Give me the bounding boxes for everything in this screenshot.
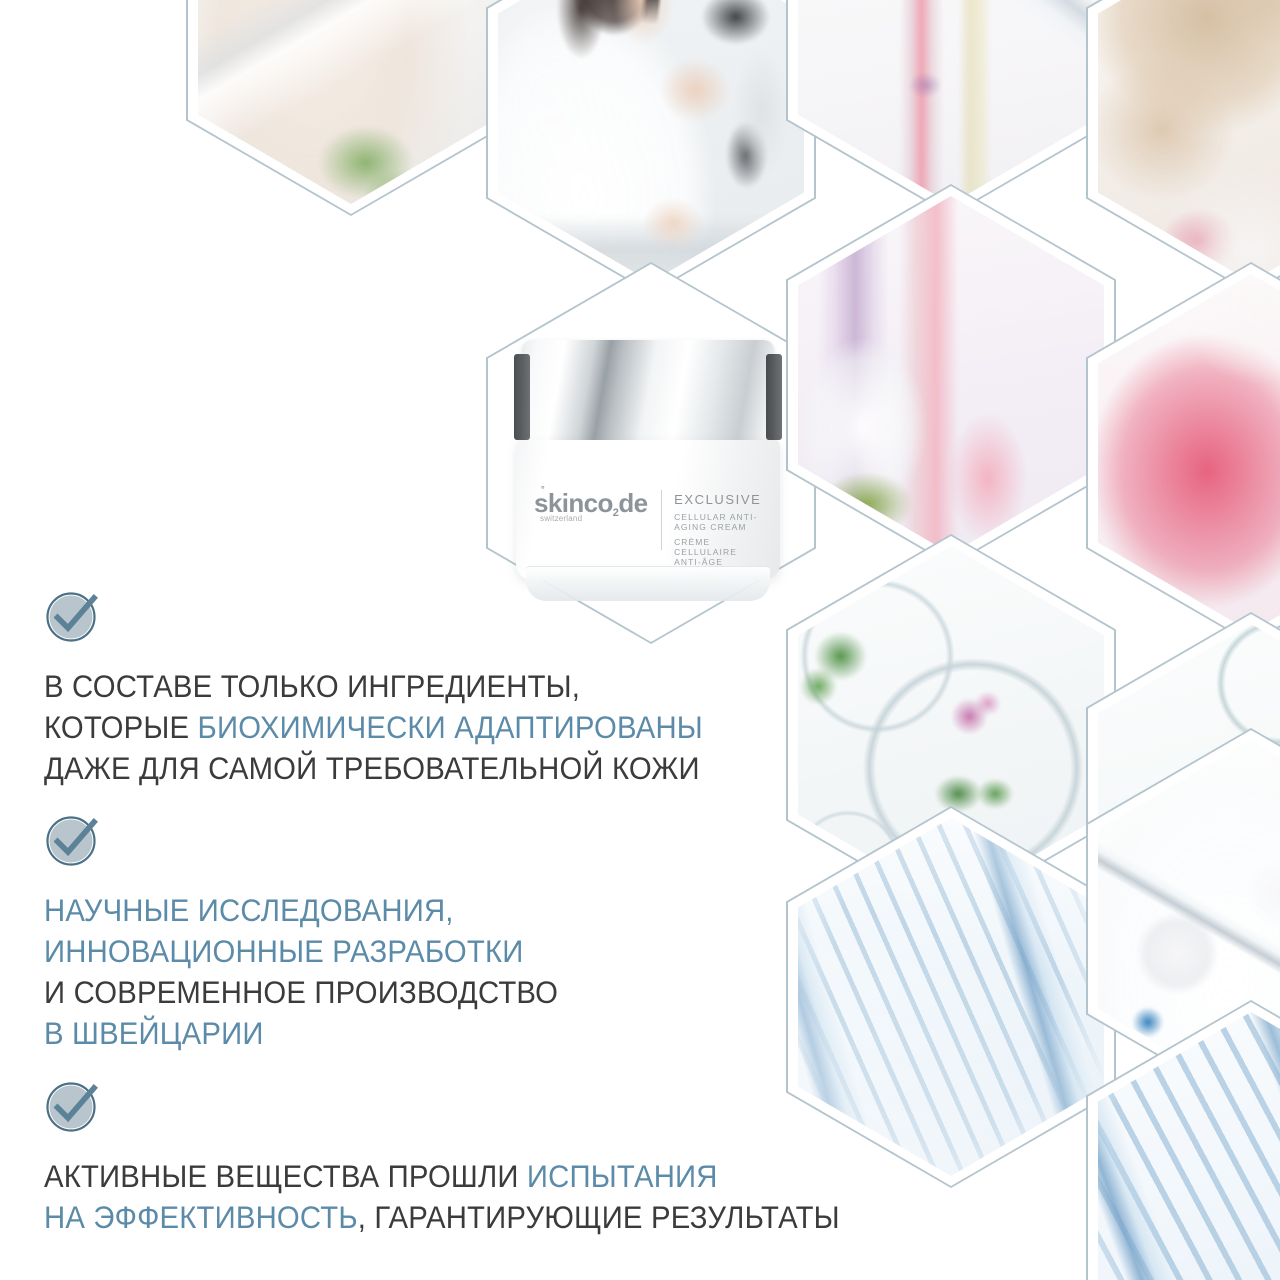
- benefit-2-line-1: НАУЧНЫЕ ИССЛЕДОВАНИЯ,: [44, 890, 558, 931]
- benefit-2-line-3: И СОВРЕМЕННОЕ ПРОИЗВОДСТВО: [44, 972, 558, 1013]
- label-divider: [661, 490, 662, 550]
- product-line-title: EXCLUSIVE: [674, 492, 766, 507]
- benefit-2-line-4: В ШВЕЙЦАРИИ: [44, 1013, 558, 1054]
- jar-lid: [522, 340, 774, 448]
- brand-name-part2: de: [618, 488, 647, 518]
- benefit-1-line-3: ДАЖЕ ДЛЯ САМОЙ ТРЕБОВАТЕЛЬНОЙ КОЖИ: [44, 748, 703, 789]
- benefit-1-line-1: В СОСТАВЕ ТОЛЬКО ИНГРЕДИЕНТЫ,: [44, 666, 703, 707]
- poster-canvas: °skinco2de switzerland EXCLUSIVE CELLULA…: [0, 0, 1280, 1280]
- benefit-text-1: В СОСТАВЕ ТОЛЬКО ИНГРЕДИЕНТЫ, КОТОРЫЕ БИ…: [44, 666, 703, 789]
- benefit-3-line-1: АКТИВНЫЕ ВЕЩЕСТВА ПРОШЛИ ИСПЫТАНИЯ: [44, 1156, 840, 1197]
- product-jar: °skinco2de switzerland EXCLUSIVE CELLULA…: [512, 340, 784, 608]
- brand-logo: °skinco2de switzerland: [534, 490, 647, 519]
- hex-scientist-microscope: [486, 0, 816, 294]
- product-desc-fr: CRÈME CELLULAIRE ANTI-ÂGE: [674, 537, 766, 567]
- jar-label: °skinco2de switzerland EXCLUSIVE CELLULA…: [534, 490, 766, 567]
- benefit-text-3: АКТИВНЫЕ ВЕЩЕСТВА ПРОШЛИ ИСПЫТАНИЯ НА ЭФ…: [44, 1156, 840, 1238]
- product-desc-en: CELLULAR ANTI-AGING CREAM: [674, 512, 766, 532]
- benefit-3-line-2: НА ЭФФЕКТИВНОСТЬ, ГАРАНТИРУЮЩИЕ РЕЗУЛЬТА…: [44, 1197, 840, 1238]
- benefit-text-2: НАУЧНЫЕ ИССЛЕДОВАНИЯ, ИННОВАЦИОННЫЕ РАЗР…: [44, 890, 558, 1054]
- check-circle-icon: [44, 812, 102, 870]
- hex-pipette-test-tube: [786, 0, 1116, 216]
- benefit-2-line-2: ИННОВАЦИОННЫЕ РАЗРАБОТКИ: [44, 931, 558, 972]
- benefit-1-line-2: КОТОРЫЕ БИОХИМИЧЕСКИ АДАПТИРОВАНЫ: [44, 707, 703, 748]
- hex-gloved-hand-flask: [186, 0, 516, 216]
- benefit-item-2: НАУЧНЫЕ ИССЛЕДОВАНИЯ, ИННОВАЦИОННЫЕ РАЗР…: [44, 812, 597, 1054]
- hex-flasks-pink-green: [786, 184, 1116, 566]
- check-circle-icon: [44, 588, 102, 646]
- benefit-item-3: АКТИВНЫЕ ВЕЩЕСТВА ПРОШЛИ ИСПЫТАНИЯ НА ЭФ…: [44, 1078, 900, 1238]
- benefit-item-1: В СОСТАВЕ ТОЛЬКО ИНГРЕДИЕНТЫ, КОТОРЫЕ БИ…: [44, 588, 753, 789]
- check-circle-icon: [44, 1078, 102, 1136]
- brand-origin: switzerland: [540, 515, 582, 523]
- hex-gloved-hands-beaker: [1086, 0, 1280, 294]
